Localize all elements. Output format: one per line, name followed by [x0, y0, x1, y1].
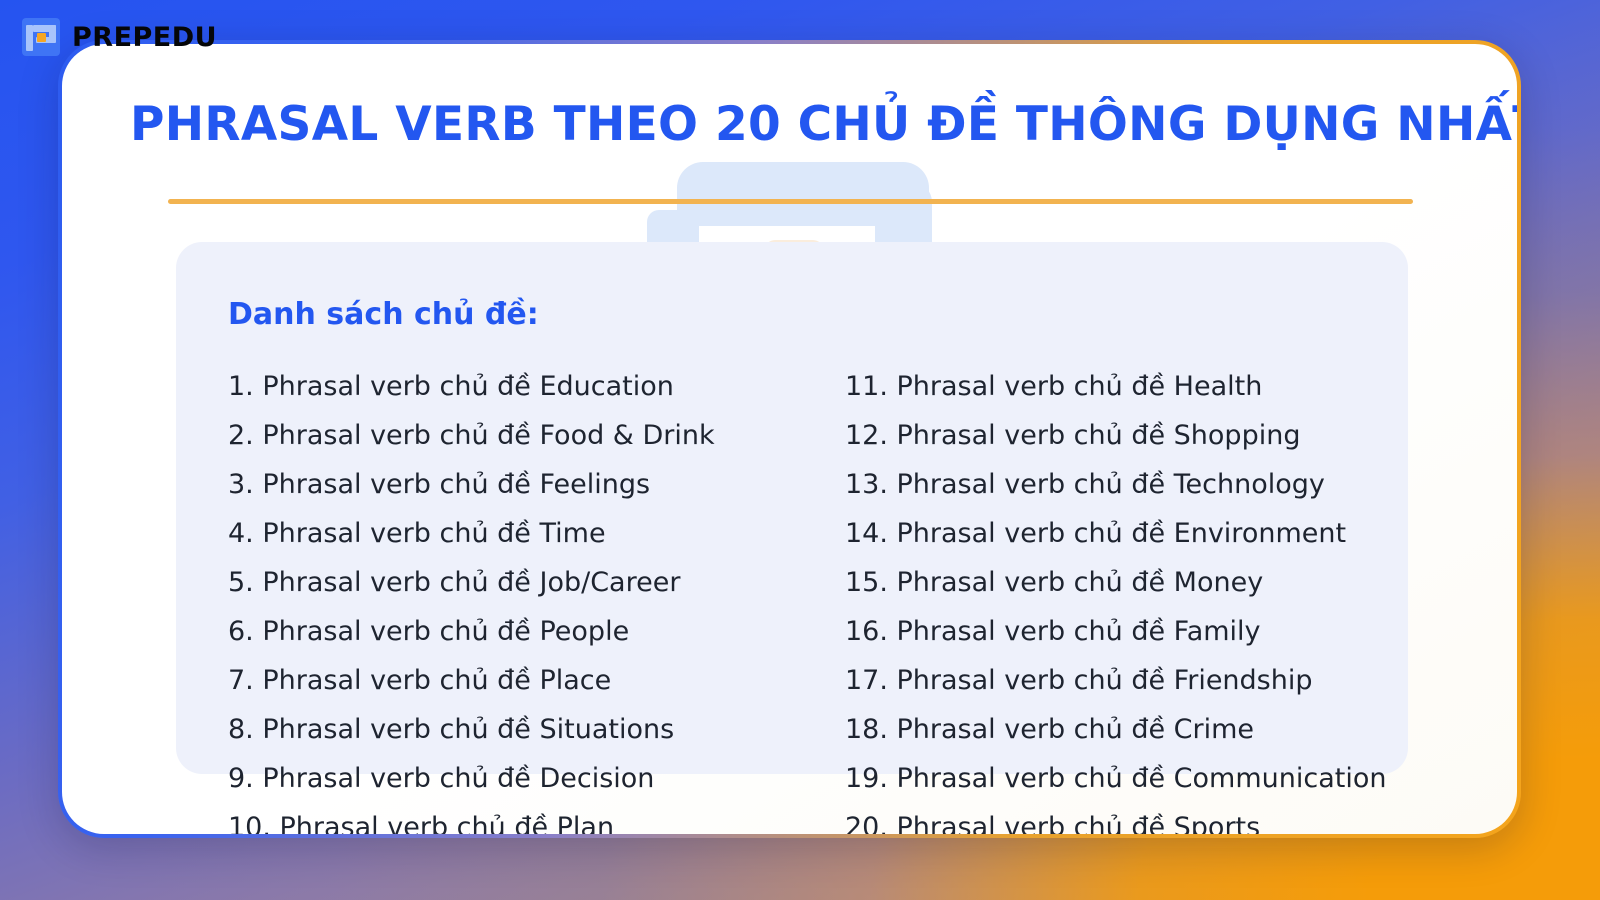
topic-list-item: 19. Phrasal verb chủ đề Communication — [845, 754, 1465, 803]
topic-list-item: 5. Phrasal verb chủ đề Job/Career — [228, 558, 848, 607]
topic-list-item: 4. Phrasal verb chủ đề Time — [228, 509, 848, 558]
topic-list-item: 9. Phrasal verb chủ đề Decision — [228, 754, 848, 803]
content-card: PREP PHRASAL VERB THEO 20 CHỦ ĐỀ THÔNG D… — [62, 44, 1517, 834]
content-card-border: PREP PHRASAL VERB THEO 20 CHỦ ĐỀ THÔNG D… — [58, 40, 1521, 838]
prep-logo-icon — [22, 18, 60, 56]
topic-list-item: 1. Phrasal verb chủ đề Education — [228, 362, 848, 411]
topic-list-item: 8. Phrasal verb chủ đề Situations — [228, 705, 848, 754]
topic-list-item: 10. Phrasal verb chủ đề Plan — [228, 803, 848, 834]
topic-list-item: 6. Phrasal verb chủ đề People — [228, 607, 848, 656]
topic-list-item: 7. Phrasal verb chủ đề Place — [228, 656, 848, 705]
brand-lockup: PREPEDU — [22, 18, 217, 56]
topic-list-item: 16. Phrasal verb chủ đề Family — [845, 607, 1465, 656]
topic-list-item: 12. Phrasal verb chủ đề Shopping — [845, 411, 1465, 460]
topic-list-item: 20. Phrasal verb chủ đề Sports — [845, 803, 1465, 834]
infographic-stage: PREPEDU PREP PHRASAL VERB THEO 20 CHỦ ĐỀ… — [0, 0, 1600, 900]
topic-list-item: 2. Phrasal verb chủ đề Food & Drink — [228, 411, 848, 460]
topic-list-item: 18. Phrasal verb chủ đề Crime — [845, 705, 1465, 754]
topic-list-item: 11. Phrasal verb chủ đề Health — [845, 362, 1465, 411]
topic-column-left: 1. Phrasal verb chủ đề Education2. Phras… — [228, 362, 848, 834]
title-divider — [168, 199, 1413, 204]
page-title: PHRASAL VERB THEO 20 CHỦ ĐỀ THÔNG DỤNG N… — [130, 97, 1460, 152]
topic-list-item: 15. Phrasal verb chủ đề Money — [845, 558, 1465, 607]
topic-list-item: 17. Phrasal verb chủ đề Friendship — [845, 656, 1465, 705]
brand-name: PREPEDU — [72, 22, 217, 53]
topic-list-item: 3. Phrasal verb chủ đề Feelings — [228, 460, 848, 509]
topic-list-item: 13. Phrasal verb chủ đề Technology — [845, 460, 1465, 509]
topic-list-item: 14. Phrasal verb chủ đề Environment — [845, 509, 1465, 558]
list-subtitle: Danh sách chủ đề: — [228, 297, 539, 332]
topic-column-right: 11. Phrasal verb chủ đề Health12. Phrasa… — [845, 362, 1465, 834]
